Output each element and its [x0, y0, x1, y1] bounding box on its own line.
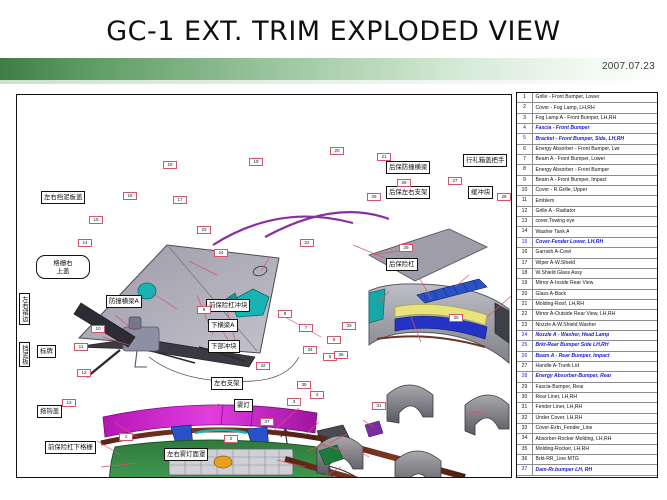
- legend-row-number: 13: [517, 217, 533, 226]
- legend-row-label: W.Shield Glass Assy: [533, 269, 582, 278]
- legend-row-number: 10: [517, 186, 533, 195]
- legend-row-label: Garnish A-Cowl: [533, 248, 571, 257]
- legend-row: 4Fascia - Front Bumper: [517, 124, 657, 134]
- legend-row: 28Energy Absorber-Bumper, Rear: [517, 372, 657, 382]
- legend-row: 16Garnish A-Cowl: [517, 248, 657, 258]
- legend-row-label: Under Cover, LH,RH: [533, 414, 582, 423]
- legend-row-label: Rear Liner, LH,RH: [533, 393, 577, 402]
- legend-row: 21Molding-Roof, LH,RH: [517, 300, 657, 310]
- part-number-tag: 12: [77, 369, 91, 377]
- legend-row-label: Fascia - Front Bumper: [533, 124, 590, 133]
- part-number-tag: 23: [197, 226, 211, 234]
- legend-row-number: 27: [517, 362, 533, 371]
- legend-row: 35Molding-Rocker, LH,RH: [517, 445, 657, 455]
- legend-row: 1Grille - Front Bumper, Lower: [517, 93, 657, 103]
- callout-mudguard-side: 挡泥板: [19, 342, 30, 367]
- rear-bumper-assembly: [369, 279, 509, 363]
- callout-left-right-fog-lamp-cover: 左右雾灯面罩: [164, 448, 208, 461]
- legend-row-label: Fender Liner, LH,RH: [533, 403, 582, 412]
- callout-lower-beam-a: 下横梁A: [208, 319, 238, 332]
- header-band-shadow: [0, 80, 667, 84]
- part-number-tag: 30: [449, 314, 463, 322]
- part-number-tag: 3: [287, 398, 301, 406]
- callout-lower-energy-absorber: 下部冲块: [208, 340, 240, 353]
- part-number-tag: 27: [448, 177, 462, 185]
- callout-fog-lamp: 雾灯: [234, 399, 253, 412]
- legend-row: 36Brkt-RR_Line MTG: [517, 455, 657, 465]
- legend-row-number: 14: [517, 227, 533, 236]
- legend-row: 9Beam A - Front Bumper, Impact: [517, 176, 657, 186]
- legend-row-label: Grille A - Radiator: [533, 207, 575, 216]
- legend-row: 17Wiper A-W.Shield: [517, 259, 657, 269]
- slide-date: 2007.07.23: [602, 61, 655, 72]
- part-number-tag: 31: [372, 402, 386, 410]
- legend-row-number: 12: [517, 207, 533, 216]
- part-number-tag: 2: [224, 435, 238, 443]
- part-number-tag: 6: [327, 336, 341, 344]
- legend-row-number: 21: [517, 300, 533, 309]
- legend-row: 3Fog Lamp A - Front Bumper, LH,RH: [517, 114, 657, 124]
- part-number-tag: 11: [74, 343, 88, 351]
- legend-row: 20Glass A-Back: [517, 290, 657, 300]
- legend-row: 30Rear Liner, LH,RH: [517, 393, 657, 403]
- part-number-tag: 9: [197, 306, 211, 314]
- legend-row: 15Cover-Fender Lower, LH,RH: [517, 238, 657, 248]
- legend-row-number: 15: [517, 238, 533, 247]
- legend-row-number: 20: [517, 290, 533, 299]
- legend-row: 26Beam A - Rear Bumper, Impact: [517, 352, 657, 362]
- part-number-tag: 21: [377, 153, 391, 161]
- legend-row: 22Mirror A-Outside Rear View, LH,RH: [517, 310, 657, 320]
- legend-row: 34Absorber-Rocker Molding, LH,RH: [517, 434, 657, 444]
- legend-row-number: 6: [517, 145, 533, 154]
- legend-row-number: 8: [517, 165, 533, 174]
- legend-row-label: Energy Absorber-Bumper, Rear: [533, 372, 611, 381]
- legend-row-label: Brkt-RR_Line MTG: [533, 455, 579, 464]
- legend-row-label: Dam-Rr.bumper LH, RH: [533, 466, 592, 475]
- legend-row-label: Absorber-Rocker Molding, LH,RH: [533, 435, 611, 444]
- part-number-tag: 13: [62, 399, 76, 407]
- callout-rear-bumper-fascia: 后保险杠: [386, 258, 418, 271]
- legend-row: 27Handle A-Trunk Lid: [517, 362, 657, 372]
- part-number-tag: 22: [300, 239, 314, 247]
- callout-towing-eye-cover: 拖钩盖: [37, 405, 62, 418]
- legend-row-label: Brkt-Rear Bumper Side LH,RH: [533, 341, 609, 350]
- legend-row-label: Nozzle A-W.Shield Washer: [533, 321, 596, 330]
- part-number-tag: 20: [330, 147, 344, 155]
- legend-row-label: Energy Absorber - Front Bumper, Lwr: [533, 145, 620, 154]
- legend-row-label: Washer Tank A: [533, 228, 569, 237]
- legend-row: 11Emblem: [517, 196, 657, 206]
- legend-row-label: Cover - R.Grille, Upper: [533, 186, 587, 195]
- legend-row-number: 5: [517, 134, 533, 143]
- part-number-tag: 17: [173, 196, 187, 204]
- part-number-tag: 1: [119, 433, 133, 441]
- legend-row-number: 32: [517, 414, 533, 423]
- legend-row: 10Cover - R.Grille, Upper: [517, 186, 657, 196]
- back-glass: [369, 229, 487, 281]
- legend-row-label: Wiper A-W.Shield: [533, 259, 575, 268]
- legend-row: 23Nozzle A-W.Shield Washer: [517, 321, 657, 331]
- page-title: GC-1 EXT. TRIM EXPLODED VIEW: [0, 16, 667, 47]
- legend-row-number: 4: [517, 124, 533, 133]
- legend-row-label: Glass A-Back: [533, 290, 566, 299]
- callout-left-right-bracket: 左右支架: [211, 377, 243, 390]
- legend-row: 37Dam-Rr.bumper LH, RH: [517, 465, 657, 475]
- part-number-tag: 24: [214, 249, 228, 257]
- legend-row-number: 3: [517, 114, 533, 123]
- legend-row-number: 35: [517, 445, 533, 454]
- legend-row-label: Emblem: [533, 197, 554, 206]
- part-number-tag: 16: [123, 192, 137, 200]
- callout-trunk-lid-handle: 行礼箱盖把手: [463, 154, 507, 167]
- part-number-tag: 37: [260, 418, 274, 426]
- legend-row-number: 2: [517, 103, 533, 112]
- legend-row-label: Mirror A-Inside Rear View: [533, 279, 593, 288]
- legend-row-number: 1: [517, 93, 533, 102]
- legend-row-label: Handle A-Trunk Lid: [533, 362, 579, 371]
- part-number-tag: 35: [297, 381, 311, 389]
- legend-row: 6Energy Absorber - Front Bumper, Lwr: [517, 145, 657, 155]
- part-number-tag: 18: [163, 161, 177, 169]
- part-number-tag: 26: [397, 179, 411, 187]
- legend-row-number: 24: [517, 331, 533, 340]
- callout-front-impact-beam-a: 防撞横梁A: [106, 295, 142, 308]
- part-number-tag: 10: [91, 325, 105, 333]
- legend-row: 19Mirror A-Inside Rear View: [517, 279, 657, 289]
- part-number-tag: 15: [89, 216, 103, 224]
- legend-row-number: 36: [517, 455, 533, 464]
- legend-row: 2Cover - Fog Lamp, LH,RH: [517, 103, 657, 113]
- legend-row: 14Washer Tank A: [517, 227, 657, 237]
- callout-front-bumper-lower-grille: 前保险杠下格栅: [45, 441, 96, 454]
- legend-row-number: 26: [517, 352, 533, 361]
- exploded-view-diagram: 左右挡泥板盖 格栅右上盖 防撞横梁A 前保险杠冲块 下横梁A 下部冲块 标牌 拖…: [16, 94, 512, 478]
- legend-row-number: 29: [517, 383, 533, 392]
- legend-notes: LH/RH : SYMMETRICLH-RH : NON-SYMMETRIC: [517, 476, 657, 478]
- legend-row: 8Energy Absorber - Front Bumper: [517, 165, 657, 175]
- legend-row-label: Cover-Extn_Fender_Line: [533, 424, 592, 433]
- part-number-tag: 28: [497, 193, 511, 201]
- legend-row-label: Bracket - Front Bumper, Side, LH,RH: [533, 135, 624, 144]
- legend-row-number: 37: [517, 465, 533, 474]
- legend-row-number: 22: [517, 310, 533, 319]
- legend-row-number: 9: [517, 176, 533, 185]
- callout-radiator-grille-upper-cover: 格栅右上盖: [36, 255, 90, 279]
- legend-row-label: Nozzle A - Washer, Head Lamp: [533, 331, 609, 340]
- legend-row: 31Fender Liner, LH,RH: [517, 403, 657, 413]
- legend-row-number: 11: [517, 196, 533, 205]
- callout-emblem-plate: 标牌: [37, 345, 56, 358]
- legend-row-label: Cover - Fog Lamp, LH,RH: [533, 104, 595, 113]
- part-number-tag: 19: [249, 158, 263, 166]
- front-bumper-fascia: [109, 440, 333, 477]
- legend-row-number: 17: [517, 259, 533, 268]
- legend-row: 18W.Shield Glass Assy: [517, 269, 657, 279]
- callout-rear-bumper-side-bracket: 后保左右支架: [386, 186, 430, 199]
- legend-row-number: 23: [517, 321, 533, 330]
- legend-row-label: Beam A - Rear Bumper, Impact: [533, 352, 610, 361]
- legend-row-number: 33: [517, 424, 533, 433]
- legend-row-number: 28: [517, 372, 533, 381]
- legend-row-label: Beam A - Front Bumper, Lower: [533, 155, 605, 164]
- legend-row-label: Grille - Front Bumper, Lower: [533, 93, 599, 102]
- part-number-tag: 8: [278, 310, 292, 318]
- callout-side-skirt-left: 左右裙边: [19, 293, 30, 325]
- legend-row-number: 16: [517, 248, 533, 257]
- legend-row: 29Fascia-Bumper, Rear: [517, 383, 657, 393]
- part-number-tag: 14: [78, 239, 92, 247]
- part-number-tag: 4: [310, 391, 324, 399]
- legend-row: 13cover,Towing eye: [517, 217, 657, 227]
- legend-row-number: 19: [517, 279, 533, 288]
- header-accent-band: [0, 58, 667, 80]
- legend-row-number: 31: [517, 403, 533, 412]
- legend-row: 5Bracket - Front Bumper, Side, LH,RH: [517, 134, 657, 144]
- legend-row-label: Fog Lamp A - Front Bumper, LH,RH: [533, 114, 616, 123]
- legend-row-label: Molding-Roof, LH,RH: [533, 300, 584, 309]
- legend-row-number: 7: [517, 155, 533, 164]
- part-number-tag: 34: [303, 346, 317, 354]
- part-number-tag: 7: [299, 324, 313, 332]
- legend-row: 7Beam A - Front Bumper, Lower: [517, 155, 657, 165]
- callout-rear-energy-absorber: 缓冲块: [468, 186, 493, 199]
- legend-row: 33Cover-Extn_Fender_Line: [517, 424, 657, 434]
- legend-row: 32Under Cover, LH,RH: [517, 414, 657, 424]
- part-number-tag: 33: [342, 322, 356, 330]
- part-number-tag: 32: [256, 362, 270, 370]
- part-number-tag: 29: [399, 244, 413, 252]
- legend-row-label: Fascia-Bumper, Rear: [533, 383, 584, 392]
- legend-row-number: 30: [517, 393, 533, 402]
- legend-row-number: 25: [517, 341, 533, 350]
- legend-row-label: Molding-Rocker, LH,RH: [533, 445, 589, 454]
- legend-row: 12Grille A - Radiator: [517, 207, 657, 217]
- legend-row-label: cover,Towing eye: [533, 217, 575, 226]
- legend-row-label: Energy Absorber - Front Bumper: [533, 166, 609, 175]
- legend-row-number: 18: [517, 269, 533, 278]
- legend-row-label: Beam A - Front Bumper, Impact: [533, 176, 607, 185]
- legend-row: 24Nozzle A - Washer, Head Lamp: [517, 331, 657, 341]
- legend-row-number: 34: [517, 434, 533, 443]
- legend-row-list: 1Grille - Front Bumper, Lower2Cover - Fo…: [517, 93, 657, 476]
- legend-row: 25Brkt-Rear Bumper Side LH,RH: [517, 341, 657, 351]
- callout-rear-bumper-impact-beam: 后保防撞横梁: [386, 161, 430, 174]
- part-number-tag: 36: [334, 351, 348, 359]
- legend-row-label: Mirror A-Outside Rear View, LH,RH: [533, 310, 615, 319]
- part-number-tag: 25: [367, 193, 381, 201]
- legend-row-label: Cover-Fender Lower, LH,RH: [533, 238, 603, 247]
- callout-front-bumper-energy-absorber: 前保险杠冲块: [206, 299, 250, 312]
- parts-legend-table: 1Grille - Front Bumper, Lower2Cover - Fo…: [516, 92, 658, 478]
- callout-left-right-fender-lower-cover: 左右挡泥板盖: [41, 191, 85, 204]
